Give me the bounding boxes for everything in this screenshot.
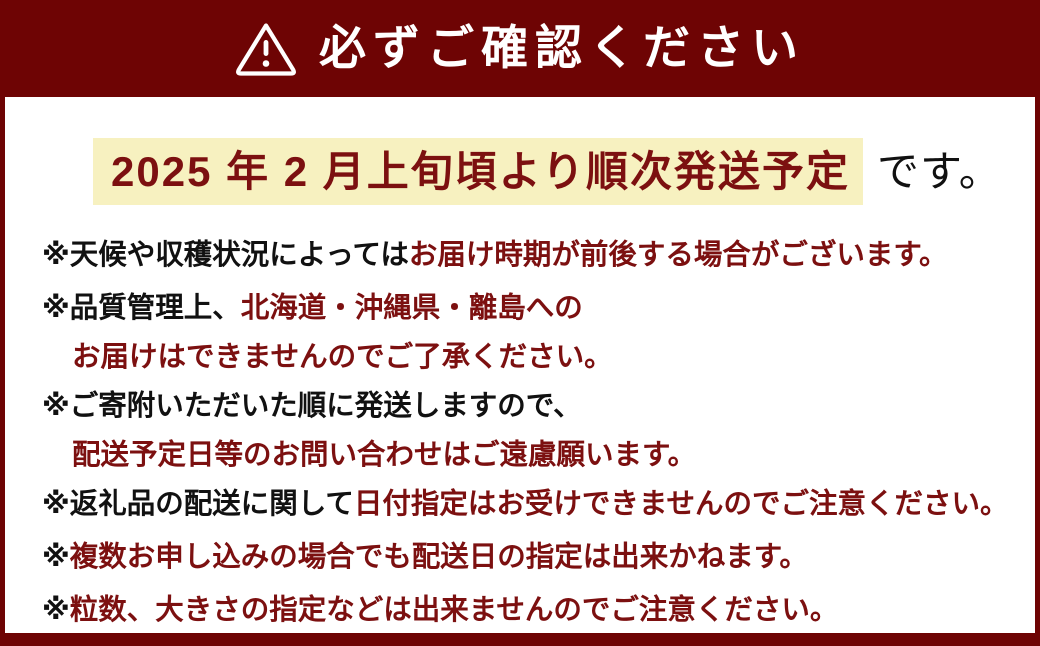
note-text-segment: 天候や収穫状況によっては <box>70 239 409 271</box>
note-line: ※天候や収穫状況によってはお届け時期が前後する場合がございます。 <box>5 229 1035 282</box>
note-text-segment: 複数お申し込みの場合でも配送日の指定は出来かねます。 <box>70 541 808 573</box>
note-line: ※ご寄附いただいた順に発送しますので、 <box>5 380 1035 433</box>
note-text-segment: 配送予定日等のお問い合わせはご遠慮願います。 <box>72 439 696 471</box>
headline-suffix-text: です。 <box>863 138 1002 205</box>
note-line: ※品質管理上、北海道・沖縄県・離島への <box>5 282 1035 335</box>
note-item: ※返礼品の配送に関して日付指定はお受けできませんのでご注意ください。 <box>5 478 1035 531</box>
note-bullet-mark: ※ <box>42 594 70 626</box>
note-line: ※粒数、大きさの指定などは出来ませんのでご注意ください。 <box>5 584 1035 637</box>
note-item: ※天候や収穫状況によってはお届け時期が前後する場合がございます。 <box>5 229 1035 282</box>
note-bullet-mark: ※ <box>42 390 70 422</box>
note-text-segment: 北海道・沖縄県・離島への <box>241 292 583 324</box>
note-text-segment: お届け時期が前後する場合がございます。 <box>409 239 948 271</box>
note-text-segment: 返礼品の配送に関して <box>70 488 354 520</box>
banner-title: 必ずご確認ください <box>319 24 805 71</box>
note-item: ※ご寄附いただいた順に発送しますので、配送予定日等のお問い合わせはご遠慮願います… <box>5 380 1035 478</box>
note-bullet-mark: ※ <box>42 292 70 324</box>
note-line: ※返礼品の配送に関して日付指定はお受けできませんのでご注意ください。 <box>5 478 1035 531</box>
headline-row: 2025 年 2 月上旬頃より順次発送予定 です。 <box>5 138 1035 205</box>
banner-header: 必ずご確認ください <box>0 0 1040 97</box>
note-bullet-mark: ※ <box>42 239 70 271</box>
note-text-segment: 粒数、大きさの指定などは出来ませんのでご注意ください。 <box>70 594 839 626</box>
banner-body: 2025 年 2 月上旬頃より順次発送予定 です。 ※天候や収穫状況によってはお… <box>5 97 1035 633</box>
note-text-segment: 品質管理上、 <box>70 292 241 324</box>
note-bullet-mark: ※ <box>42 488 70 520</box>
note-bullet-mark: ※ <box>42 541 70 573</box>
headline-highlighted-text: 2025 年 2 月上旬頃より順次発送予定 <box>93 138 863 205</box>
notes-list: ※天候や収穫状況によってはお届け時期が前後する場合がございます。※品質管理上、北… <box>5 229 1035 637</box>
note-item: ※複数お申し込みの場合でも配送日の指定は出来かねます。 <box>5 531 1035 584</box>
note-line: ※複数お申し込みの場合でも配送日の指定は出来かねます。 <box>5 531 1035 584</box>
note-text-segment: お届けはできませんのでご了承ください。 <box>72 341 613 373</box>
note-item: ※粒数、大きさの指定などは出来ませんのでご注意ください。 <box>5 584 1035 637</box>
shipping-notice-banner: 必ずご確認ください 2025 年 2 月上旬頃より順次発送予定 です。 ※天候や… <box>0 0 1040 646</box>
note-text-segment: 日付指定はお受けできませんのでご注意ください。 <box>354 488 1009 520</box>
note-item: ※品質管理上、北海道・沖縄県・離島へのお届けはできませんのでご了承ください。 <box>5 282 1035 380</box>
note-text-segment: ご寄附いただいた順に発送しますので、 <box>70 390 582 422</box>
note-continuation-line: お届けはできませんのでご了承ください。 <box>5 335 1035 380</box>
note-continuation-line: 配送予定日等のお問い合わせはご遠慮願います。 <box>5 433 1035 478</box>
warning-triangle-icon <box>235 21 297 77</box>
